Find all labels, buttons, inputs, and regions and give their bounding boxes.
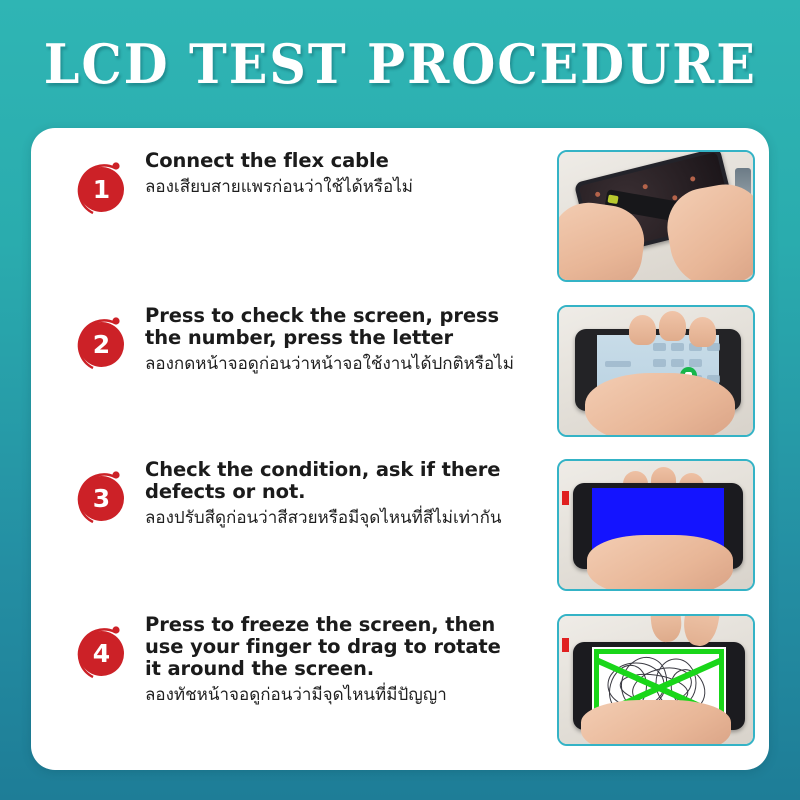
step-row-2: 2 Press to check the screen, press the n… — [31, 297, 769, 452]
step-text-3: Check the condition, ask if there defect… — [131, 451, 557, 529]
step-title-2: Press to check the screen, press the num… — [145, 305, 515, 349]
step-badge-4: 4 — [69, 622, 131, 684]
step-row-1: 1 Connect the flex cable ลองเสียบสายแพรก… — [31, 142, 769, 297]
step-number-1: 1 — [79, 167, 124, 212]
step-text-4: Press to freeze the screen, then use you… — [131, 606, 557, 706]
step-title-1: Connect the flex cable — [145, 150, 515, 172]
step-badge-1: 1 — [69, 158, 131, 220]
step-row-4: 4 Press to freeze the screen, then use y… — [31, 606, 769, 761]
red-marker — [562, 491, 569, 505]
step-subtitle-2: ลองกดหน้าจอดูก่อนว่าหน้าจอใช้งานได้ปกติห… — [145, 354, 557, 375]
step-text-2: Press to check the screen, press the num… — [131, 297, 557, 375]
photo-connect-flex-cable — [557, 150, 755, 282]
step-title-4: Press to freeze the screen, then use you… — [145, 614, 515, 680]
photo-touch-drag-test — [557, 614, 755, 746]
title-bar: LCD TEST PROCEDURE — [0, 0, 800, 128]
step-badge-3: 3 — [69, 467, 131, 529]
red-marker — [562, 638, 569, 652]
step-badge-2: 2 — [69, 313, 131, 375]
step-subtitle-3: ลองปรับสีดูก่อนว่าสีสวยหรือมีจุดไหนที่สี… — [145, 508, 557, 529]
step-text-1: Connect the flex cable ลองเสียบสายแพรก่อ… — [131, 142, 557, 198]
finger — [689, 317, 716, 347]
step-number-3: 3 — [79, 476, 124, 521]
step-row-3: 3 Check the condition, ask if there defe… — [31, 451, 769, 606]
photo-blue-color-test — [557, 459, 755, 591]
procedure-card: 1 Connect the flex cable ลองเสียบสายแพรก… — [31, 128, 769, 770]
step-number-4: 4 — [79, 631, 124, 676]
photo-dialer-keypad-test — [557, 305, 755, 437]
step-subtitle-1: ลองเสียบสายแพรก่อนว่าใช้ได้หรือไม่ — [145, 177, 557, 198]
step-title-3: Check the condition, ask if there defect… — [145, 459, 515, 503]
finger — [659, 311, 686, 341]
flex-connector — [607, 194, 618, 204]
page-title: LCD TEST PROCEDURE — [43, 32, 756, 96]
hand-holding-phone — [585, 373, 735, 437]
finger — [629, 315, 656, 345]
step-number-2: 2 — [79, 322, 124, 367]
hand-holding-phone — [587, 535, 733, 591]
hand-holding-phone — [581, 700, 731, 746]
step-subtitle-4: ลองทัชหน้าจอดูก่อนว่ามีจุดไหนที่มีปัญญา — [145, 685, 557, 706]
